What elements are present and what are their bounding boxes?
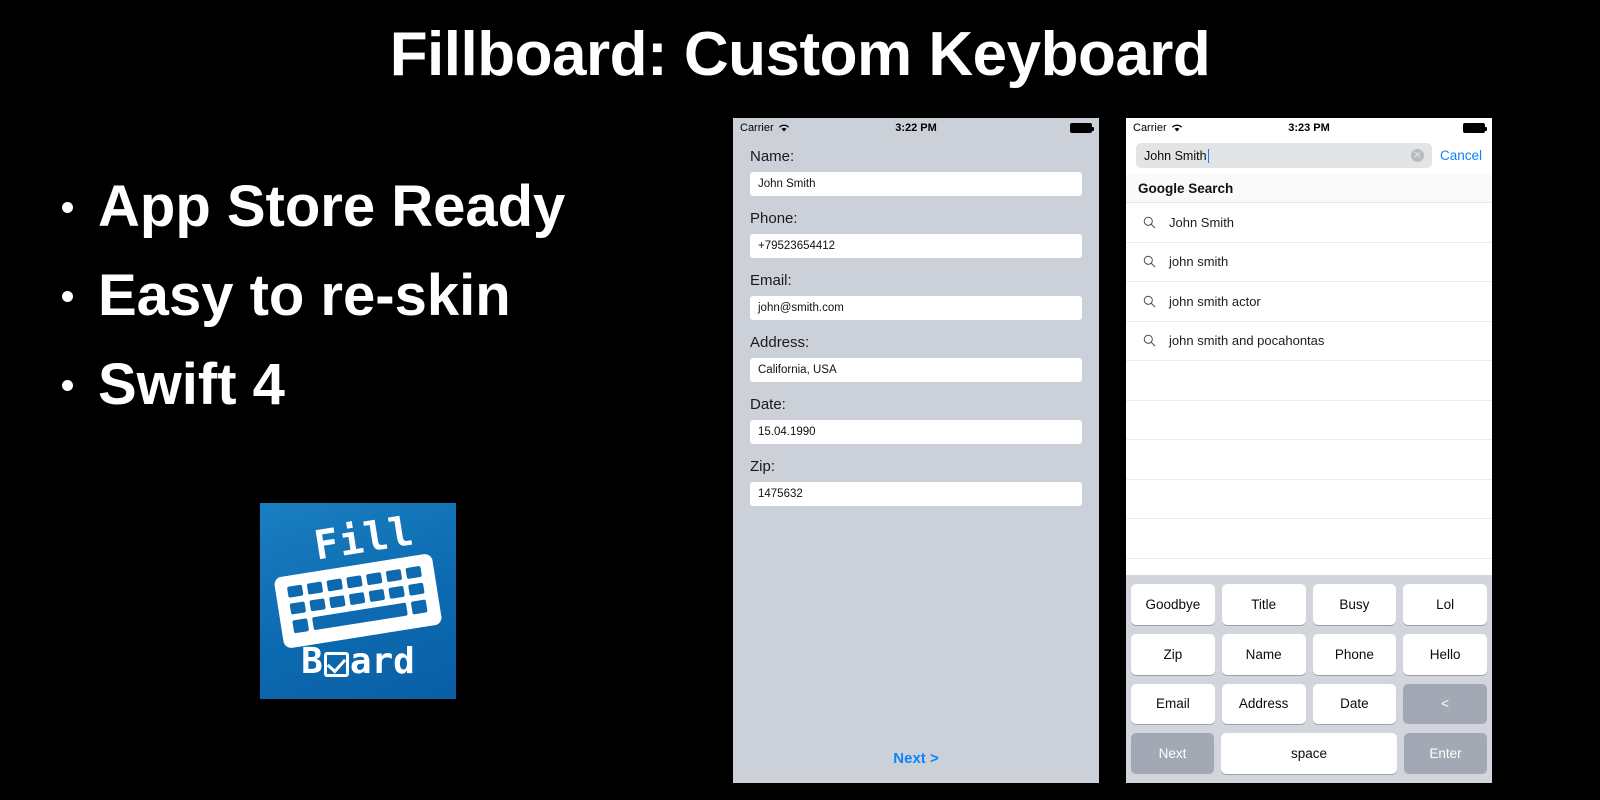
search-input-value: John Smith: [1144, 149, 1207, 163]
keyboard-row: Email Address Date <: [1131, 684, 1487, 725]
bullet-label: Easy to re-skin: [98, 267, 511, 325]
key-email[interactable]: Email: [1131, 684, 1215, 725]
field-label-name: Name:: [750, 148, 1082, 165]
key-name[interactable]: Name: [1222, 634, 1306, 675]
status-time: 3:22 PM: [733, 122, 1099, 134]
search-icon: [1143, 295, 1156, 308]
list-item-empty: [1126, 480, 1492, 520]
bullet-label: App Store Ready: [98, 178, 565, 236]
field-label-phone: Phone:: [750, 210, 1082, 227]
list-item[interactable]: john smith: [1126, 243, 1492, 283]
suggestion-label: John Smith: [1169, 215, 1234, 230]
cancel-button[interactable]: Cancel: [1440, 148, 1484, 163]
search-bar: John Smith ✕ Cancel: [1126, 138, 1492, 174]
address-input[interactable]: California, USA: [750, 358, 1082, 382]
battery-icon: [1070, 123, 1092, 133]
key-goodbye[interactable]: Goodbye: [1131, 584, 1215, 625]
status-bar: Carrier 3:22 PM: [733, 118, 1099, 138]
keyboard-icon: [273, 553, 442, 649]
next-button[interactable]: Next >: [733, 750, 1099, 767]
key-busy[interactable]: Busy: [1313, 584, 1397, 625]
suggestion-list: John Smith john smith john smith actor j…: [1126, 203, 1492, 598]
key-next[interactable]: Next: [1131, 733, 1214, 774]
list-item-empty: [1126, 361, 1492, 401]
field-label-zip: Zip:: [750, 458, 1082, 475]
list-item: Swift 4: [62, 356, 722, 414]
bullet-dot-icon: [62, 380, 73, 391]
field-label-date: Date:: [750, 396, 1082, 413]
date-input[interactable]: 15.04.1990: [750, 420, 1082, 444]
field-label-address: Address:: [750, 334, 1082, 351]
section-header-google-search: Google Search: [1126, 174, 1492, 203]
email-input[interactable]: john@smith.com: [750, 296, 1082, 320]
key-date[interactable]: Date: [1313, 684, 1397, 725]
keyboard-row: Goodbye Title Busy Lol: [1131, 584, 1487, 625]
list-item: Easy to re-skin: [62, 267, 722, 325]
list-item[interactable]: John Smith: [1126, 203, 1492, 243]
list-item[interactable]: john smith and pocahontas: [1126, 322, 1492, 362]
app-icon-bottom-prefix: B: [301, 641, 323, 682]
phone-screen-form: Carrier 3:22 PM Name: John Smith Phone: …: [733, 118, 1099, 783]
status-time: 3:23 PM: [1126, 122, 1492, 134]
key-address[interactable]: Address: [1222, 684, 1306, 725]
search-icon: [1143, 255, 1156, 268]
list-item: App Store Ready: [62, 178, 722, 236]
keyboard-row: Zip Name Phone Hello: [1131, 634, 1487, 675]
list-item-empty: [1126, 519, 1492, 559]
key-phone[interactable]: Phone: [1313, 634, 1397, 675]
key-lol[interactable]: Lol: [1403, 584, 1487, 625]
checkbox-icon: [324, 652, 349, 677]
list-item[interactable]: john smith actor: [1126, 282, 1492, 322]
bullet-dot-icon: [62, 202, 73, 213]
feature-bullet-list: App Store Ready Easy to re-skin Swift 4: [62, 178, 722, 445]
app-icon-logo: Fill B ard: [260, 503, 456, 699]
page-title: Fillboard: Custom Keyboard: [0, 18, 1600, 92]
key-zip[interactable]: Zip: [1131, 634, 1215, 675]
key-backspace[interactable]: <: [1403, 684, 1487, 725]
list-item-empty: [1126, 401, 1492, 441]
list-item-empty: [1126, 440, 1492, 480]
name-input[interactable]: John Smith: [750, 172, 1082, 196]
phone-screen-keyboard: Carrier 3:23 PM John Smith ✕ Cancel Goog…: [1126, 118, 1492, 783]
app-icon-bottom-text: B ard: [290, 641, 426, 682]
clear-icon[interactable]: ✕: [1411, 149, 1424, 162]
search-input[interactable]: John Smith ✕: [1136, 143, 1432, 168]
status-bar: Carrier 3:23 PM: [1126, 118, 1492, 138]
zip-input[interactable]: 1475632: [750, 482, 1082, 506]
search-icon: [1143, 216, 1156, 229]
app-icon-bottom-suffix: ard: [350, 641, 415, 682]
key-enter[interactable]: Enter: [1404, 733, 1487, 774]
key-title[interactable]: Title: [1222, 584, 1306, 625]
bullet-label: Swift 4: [98, 356, 285, 414]
battery-icon: [1463, 123, 1485, 133]
text-caret: [1208, 149, 1209, 163]
contact-form: Name: John Smith Phone: +79523654412 Ema…: [733, 138, 1099, 506]
keyboard-row: Next space Enter: [1131, 733, 1487, 774]
key-hello[interactable]: Hello: [1403, 634, 1487, 675]
bullet-dot-icon: [62, 291, 73, 302]
field-label-email: Email:: [750, 272, 1082, 289]
suggestion-label: john smith: [1169, 254, 1228, 269]
phone-input[interactable]: +79523654412: [750, 234, 1082, 258]
suggestion-label: john smith and pocahontas: [1169, 333, 1324, 348]
search-icon: [1143, 334, 1156, 347]
suggestion-label: john smith actor: [1169, 294, 1261, 309]
key-space[interactable]: space: [1221, 733, 1397, 774]
custom-keyboard: Goodbye Title Busy Lol Zip Name Phone He…: [1126, 575, 1492, 783]
